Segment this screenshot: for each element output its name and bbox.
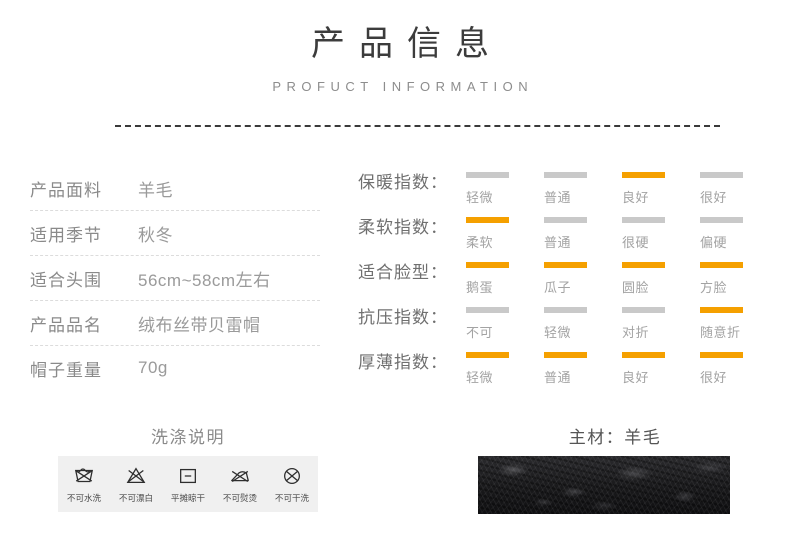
- rating-step: 很好: [700, 352, 778, 386]
- rating-step-label: 对折: [622, 322, 700, 341]
- wash-care-caption: 平摊晾干: [171, 491, 205, 503]
- rating-step-label: 随意折: [700, 322, 778, 341]
- rating-step-label: 轻微: [466, 367, 544, 386]
- rating-step: 良好: [622, 352, 700, 386]
- rating-step: 方脸: [700, 262, 778, 296]
- page-subtitle: PROFUCT INFORMATION: [0, 78, 800, 96]
- rating-bar: [466, 307, 509, 313]
- rating-step-label: 圆脸: [622, 277, 700, 296]
- spec-value: 56cm~58cm左右: [138, 266, 271, 291]
- rating-step-label: 很好: [700, 367, 778, 386]
- rating-step-label: 方脸: [700, 277, 778, 296]
- rating-step: 圆脸: [622, 262, 700, 296]
- rating-step-label: 不可: [466, 322, 544, 341]
- rating-scale: 鹅蛋 瓜子 圆脸 方脸: [466, 262, 778, 296]
- material-swatch-image: [478, 456, 730, 514]
- rating-bar: [544, 172, 587, 178]
- rating-row-face-shape: 适合脸型： 鹅蛋 瓜子 圆脸 方脸: [358, 262, 778, 307]
- rating-step: 普通: [544, 217, 622, 251]
- rating-step-label: 普通: [544, 367, 622, 386]
- dry-flat-icon: [176, 465, 200, 487]
- rating-step: 很好: [700, 172, 778, 206]
- rating-scale: 柔软 普通 很硬 偏硬: [466, 217, 778, 251]
- rating-step-label: 偏硬: [700, 232, 778, 251]
- no-bleach-icon: [124, 465, 148, 487]
- page-header: 产品信息 PROFUCT INFORMATION: [0, 22, 800, 96]
- rating-step-label: 良好: [622, 187, 700, 206]
- rating-step-label: 很硬: [622, 232, 700, 251]
- rating-step: 普通: [544, 172, 622, 206]
- rating-step: 轻微: [466, 172, 544, 206]
- rating-step: 瓜子: [544, 262, 622, 296]
- rating-bar: [466, 172, 509, 178]
- rating-step-label: 普通: [544, 187, 622, 206]
- rating-step-label: 瓜子: [544, 277, 622, 296]
- spec-key: 适合头围: [30, 266, 138, 291]
- rating-step: 柔软: [466, 217, 544, 251]
- no-iron-icon: [228, 465, 252, 487]
- spec-key: 帽子重量: [30, 356, 138, 381]
- rating-label: 保暖指数：: [358, 168, 462, 193]
- wash-care-caption: 不可熨烫: [223, 491, 257, 503]
- wash-care-caption: 不可水洗: [67, 491, 101, 503]
- rating-bar: [466, 262, 509, 268]
- table-row: 产品品名 绒布丝带贝雷帽: [30, 300, 320, 345]
- wash-care-title: 洗涤说明: [58, 423, 318, 448]
- rating-bar: [700, 172, 743, 178]
- rating-bar: [622, 307, 665, 313]
- rating-step: 偏硬: [700, 217, 778, 251]
- wash-care-caption: 不可干洗: [275, 491, 309, 503]
- spec-value: 羊毛: [138, 176, 173, 201]
- rating-bar: [466, 352, 509, 358]
- rating-bar: [622, 217, 665, 223]
- rating-label: 厚薄指数：: [358, 348, 462, 373]
- rating-label: 抗压指数：: [358, 303, 462, 328]
- rating-step-label: 柔软: [466, 232, 544, 251]
- header-dashed-divider: [115, 125, 720, 127]
- rating-step: 不可: [466, 307, 544, 341]
- rating-scale: 轻微 普通 良好 很好: [466, 172, 778, 206]
- rating-row-softness: 柔软指数： 柔软 普通 很硬 偏硬: [358, 217, 778, 262]
- no-dry-clean-icon: [280, 465, 304, 487]
- rating-step-label: 良好: [622, 367, 700, 386]
- spec-table: 产品面料 羊毛 适用季节 秋冬 适合头围 56cm~58cm左右 产品品名 绒布…: [30, 166, 320, 390]
- rating-panel: 保暖指数： 轻微 普通 良好 很好: [358, 172, 778, 397]
- rating-bar: [700, 352, 743, 358]
- wash-care-item: 不可漂白: [110, 465, 162, 504]
- rating-bar: [544, 352, 587, 358]
- rating-bar: [544, 217, 587, 223]
- rating-step-label: 轻微: [544, 322, 622, 341]
- spec-value: 绒布丝带贝雷帽: [138, 311, 261, 336]
- wash-care-item: 不可熨烫: [214, 465, 266, 504]
- no-machine-wash-icon: [72, 465, 96, 487]
- rating-bar: [622, 352, 665, 358]
- wash-care-caption: 不可漂白: [119, 491, 153, 503]
- wash-care-item: 不可干洗: [266, 465, 318, 504]
- rating-step: 对折: [622, 307, 700, 341]
- rating-step: 轻微: [544, 307, 622, 341]
- rating-label: 适合脸型：: [358, 258, 462, 283]
- rating-step: 很硬: [622, 217, 700, 251]
- spec-key: 产品面料: [30, 176, 138, 201]
- spec-value: 70g: [138, 358, 168, 378]
- rating-step-label: 鹅蛋: [466, 277, 544, 296]
- product-information-page: 产品信息 PROFUCT INFORMATION 产品面料 羊毛 适用季节 秋冬…: [0, 0, 800, 560]
- rating-step-label: 轻微: [466, 187, 544, 206]
- wash-care-item: 平摊晾干: [162, 465, 214, 504]
- rating-label: 柔软指数：: [358, 213, 462, 238]
- rating-step-label: 普通: [544, 232, 622, 251]
- rating-bar: [622, 172, 665, 178]
- rating-step: 普通: [544, 352, 622, 386]
- spec-key: 适用季节: [30, 221, 138, 246]
- rating-step: 轻微: [466, 352, 544, 386]
- rating-bar: [700, 262, 743, 268]
- wash-care-band: 不可水洗 不可漂白 平摊晾干: [58, 456, 318, 512]
- rating-step: 良好: [622, 172, 700, 206]
- rating-bar: [700, 217, 743, 223]
- rating-bar: [544, 262, 587, 268]
- rating-scale: 不可 轻微 对折 随意折: [466, 307, 778, 341]
- table-row: 帽子重量 70g: [30, 345, 320, 390]
- material-title: 主材：羊毛: [450, 423, 780, 448]
- rating-row-crush-resistance: 抗压指数： 不可 轻微 对折 随意折: [358, 307, 778, 352]
- rating-bar: [622, 262, 665, 268]
- table-row: 适用季节 秋冬: [30, 210, 320, 255]
- spec-key: 产品品名: [30, 311, 138, 336]
- wash-care-item: 不可水洗: [58, 465, 110, 504]
- table-row: 适合头围 56cm~58cm左右: [30, 255, 320, 300]
- rating-row-thickness: 厚薄指数： 轻微 普通 良好 很好: [358, 352, 778, 397]
- spec-value: 秋冬: [138, 221, 173, 246]
- page-title: 产品信息: [0, 22, 800, 66]
- rating-step: 鹅蛋: [466, 262, 544, 296]
- rating-row-warmth: 保暖指数： 轻微 普通 良好 很好: [358, 172, 778, 217]
- rating-bar: [700, 307, 743, 313]
- rating-scale: 轻微 普通 良好 很好: [466, 352, 778, 386]
- rating-bar: [466, 217, 509, 223]
- rating-step-label: 很好: [700, 187, 778, 206]
- table-row: 产品面料 羊毛: [30, 166, 320, 210]
- rating-bar: [544, 307, 587, 313]
- rating-step: 随意折: [700, 307, 778, 341]
